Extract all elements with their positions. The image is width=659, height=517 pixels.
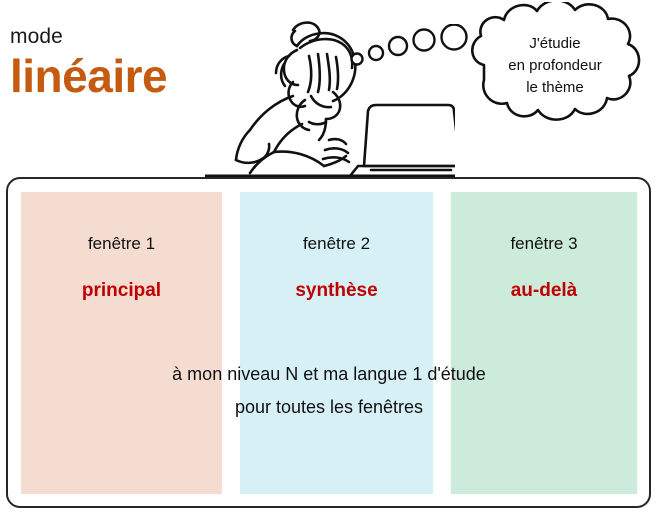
window-column-2: fenêtre 2 synthèse: [240, 192, 433, 494]
window-2-title: fenêtre 2: [240, 234, 433, 254]
window-1-title: fenêtre 1: [21, 234, 222, 254]
bubble-line-2: en profondeur: [470, 55, 640, 77]
bubble-line-1: J'étudie: [470, 33, 640, 55]
thought-bubble-text: J'étudie en profondeur le thème: [470, 33, 640, 98]
slide-canvas: mode linéaire: [0, 0, 659, 517]
window-1-keyword: principal: [21, 280, 222, 302]
window-3-keyword: au-delà: [451, 280, 637, 302]
window-column-1: fenêtre 1 principal: [21, 192, 222, 494]
window-3-title: fenêtre 3: [451, 234, 637, 254]
window-2-keyword: synthèse: [240, 280, 433, 302]
window-column-3: fenêtre 3 au-delà: [451, 192, 637, 494]
bubble-line-3: le thème: [470, 77, 640, 99]
